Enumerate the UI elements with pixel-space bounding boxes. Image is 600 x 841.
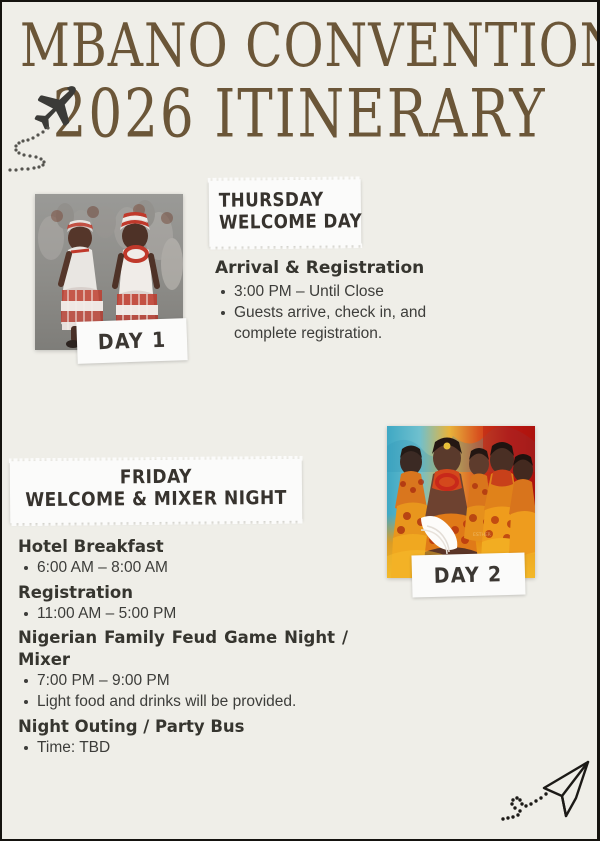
day-2-tag: DAY 2: [411, 553, 525, 598]
list-item: 6:00 AM – 8:00 AM: [18, 558, 348, 579]
friday-banner-line-2: WELCOME & MIXER NIGHT: [25, 487, 288, 511]
day-1-tag: DAY 1: [76, 318, 187, 364]
list-item: 3:00 PM – Until Close: [215, 282, 493, 303]
bullet-list: 6:00 AM – 8:00 AM: [18, 558, 348, 579]
thursday-schedule: Arrival & Registration 3:00 PM – Until C…: [215, 258, 493, 348]
thursday-banner: THURSDAY WELCOME DAY: [209, 179, 362, 247]
airplane-icon: [4, 74, 116, 174]
list-item: Light food and drinks will be provided.: [18, 692, 348, 713]
section-heading: Arrival & Registration: [215, 258, 493, 280]
bullet-list: Time: TBD: [18, 738, 348, 759]
section-heading: Nigerian Family Feud Game Night / Mixer: [18, 627, 348, 669]
list-item: Guests arrive, check in, and complete re…: [215, 303, 493, 344]
day-2-tag-label: DAY 2: [434, 562, 503, 588]
friday-schedule: Hotel Breakfast 6:00 AM – 8:00 AM Regist…: [18, 536, 348, 762]
list-item: 7:00 PM – 9:00 PM: [18, 671, 348, 692]
friday-banner: FRIDAY WELCOME & MIXER NIGHT: [10, 459, 303, 524]
section-heading: Hotel Breakfast: [18, 536, 348, 557]
section-heading: Registration: [18, 582, 348, 603]
bullet-list: 7:00 PM – 9:00 PM Light food and drinks …: [18, 671, 348, 713]
title-line-1: MBANO CONVENTION: [20, 16, 579, 76]
bullet-list: 3:00 PM – Until Close Guests arrive, che…: [215, 282, 493, 345]
bullet-list: 11:00 AM – 5:00 PM: [18, 604, 348, 625]
thursday-banner-line-1: THURSDAY: [219, 188, 362, 212]
thursday-banner-line-2: WELCOME DAY: [219, 210, 362, 234]
itinerary-page: MBANO CONVENTION 2026 ITINERARY: [0, 0, 600, 841]
svg-text:ESTHER: ESTHER: [473, 532, 491, 538]
list-item: 11:00 AM – 5:00 PM: [18, 604, 348, 625]
section-heading: Night Outing / Party Bus: [18, 716, 348, 737]
paper-airplane-icon: [500, 754, 596, 838]
day-1-tag-label: DAY 1: [97, 328, 166, 354]
friday-banner-line-1: FRIDAY: [24, 465, 287, 489]
list-item: Time: TBD: [18, 738, 348, 759]
